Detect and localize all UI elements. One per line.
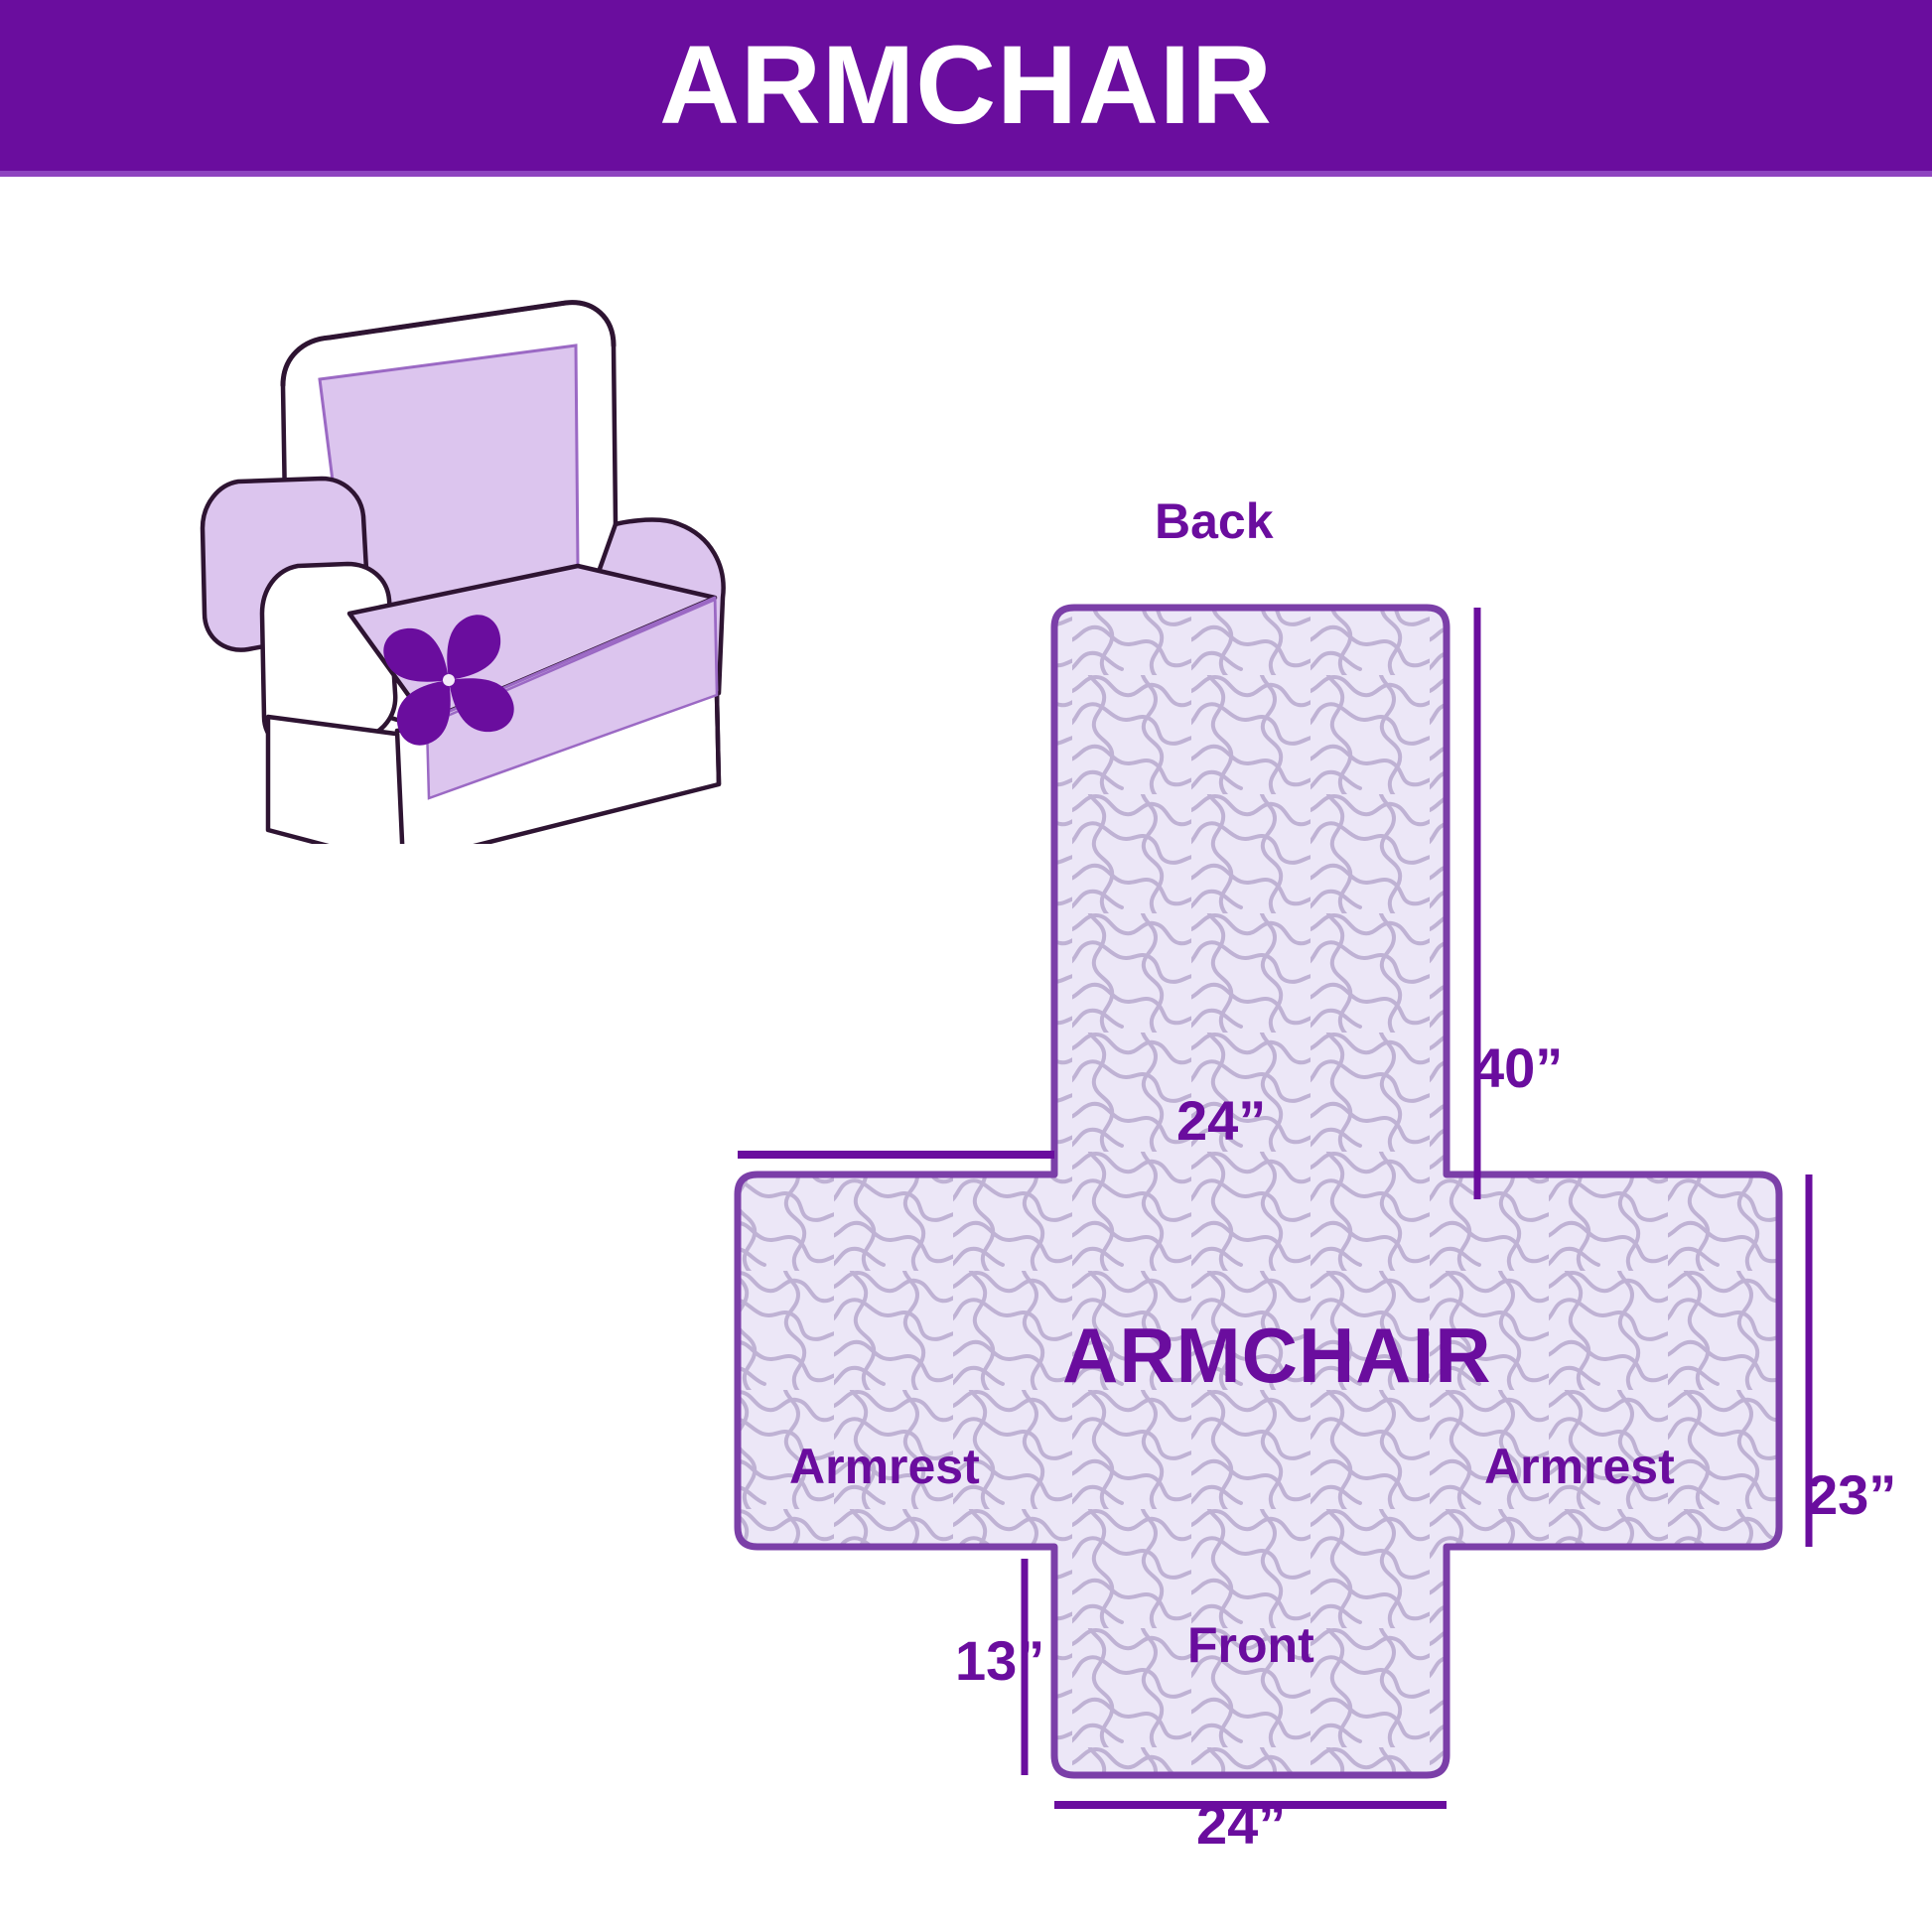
cover-cross-diagram: [596, 556, 1932, 1932]
dimension-label-armrest-height: 23”: [1807, 1462, 1896, 1527]
panel-label-front: Front: [1187, 1616, 1314, 1674]
dimension-label-back-height: 40”: [1473, 1035, 1563, 1100]
dimension-label-front-height: 13”: [955, 1628, 1044, 1693]
panel-label-back: Back: [1155, 492, 1274, 550]
panel-label-armrest-right: Armrest: [1484, 1438, 1675, 1495]
dimension-label-back-width: 24”: [1176, 1088, 1266, 1153]
cover-panel-shape: [596, 556, 1932, 1932]
banner-underline: [0, 171, 1932, 177]
panel-label-armrest-left: Armrest: [789, 1438, 980, 1495]
cover-product-label: ARMCHAIR: [1062, 1311, 1492, 1401]
header-banner: ARMCHAIR: [0, 0, 1932, 177]
page-title: ARMCHAIR: [0, 0, 1932, 171]
dimension-label-front-width: 24”: [1196, 1792, 1286, 1857]
